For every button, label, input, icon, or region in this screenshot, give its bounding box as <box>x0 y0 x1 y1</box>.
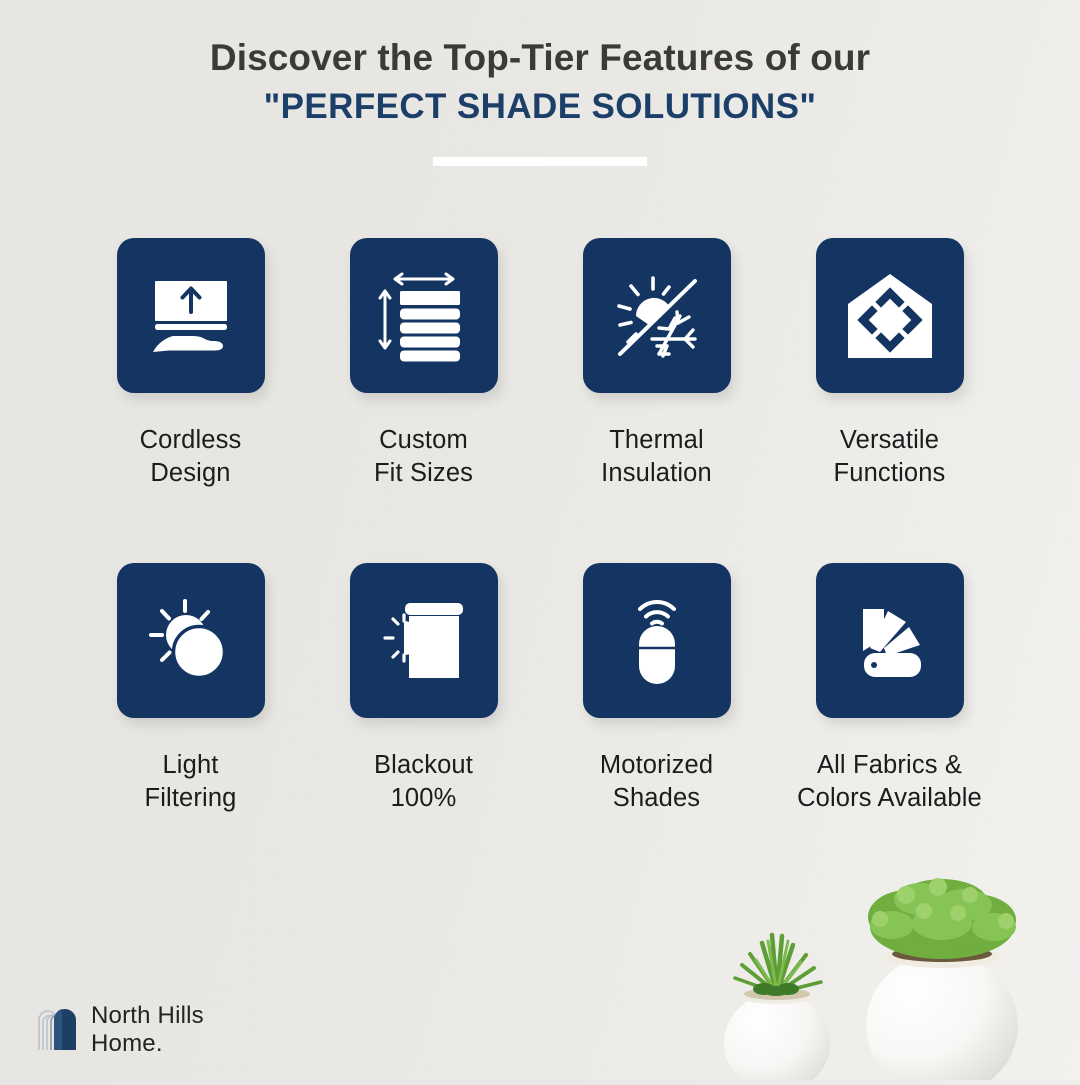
feature-icon-tile <box>117 238 265 393</box>
page-title-line2: "PERFECT SHADE SOLUTIONS" <box>0 84 1080 130</box>
feature-label: Cordless Design <box>140 424 242 490</box>
remote-signal-icon <box>607 590 707 690</box>
feature-grid: Cordless Design <box>0 238 1080 815</box>
feature-label: Thermal Insulation <box>601 424 712 490</box>
measure-blind-icon <box>374 266 474 366</box>
feature-item-light-filtering[interactable]: Light Filtering <box>74 563 307 815</box>
feature-item-thermal-insulation[interactable]: Thermal Insulation <box>540 238 773 490</box>
arch-logo-mark <box>36 1003 80 1056</box>
feature-label: All Fabrics & Colors Available <box>797 749 982 815</box>
feature-icon-tile <box>350 563 498 718</box>
feature-item-versatile-functions[interactable]: Versatile Functions <box>773 238 1006 490</box>
brand-name: North Hills Home. <box>91 1002 204 1058</box>
page-title-line1: Discover the Top-Tier Features of our <box>0 34 1080 81</box>
cordless-shade-hand-icon <box>143 268 239 364</box>
feature-icon-tile <box>816 238 964 393</box>
sun-overlap-circle-icon <box>141 590 241 690</box>
feature-icon-tile <box>583 563 731 718</box>
feature-item-motorized-shades[interactable]: Motorized Shades <box>540 563 773 815</box>
brand-logo[interactable]: North Hills Home. <box>36 1002 204 1058</box>
feature-label: Motorized Shades <box>600 749 713 815</box>
feature-item-custom-fit-sizes[interactable]: Custom Fit Sizes <box>307 238 540 490</box>
feature-label: Custom Fit Sizes <box>374 424 473 490</box>
feature-icon-tile <box>350 238 498 393</box>
feature-label: Light Filtering <box>144 749 236 815</box>
feature-label: Versatile Functions <box>834 424 946 490</box>
title-divider <box>433 157 647 166</box>
feature-icon-tile <box>816 563 964 718</box>
feature-label: Blackout 100% <box>374 749 473 815</box>
house-diamond-arrows-icon <box>840 266 940 366</box>
feature-item-fabrics-colors[interactable]: All Fabrics & Colors Available <box>773 563 1006 815</box>
sun-snowflake-icon <box>607 266 707 366</box>
decorative-plants <box>702 865 1062 1080</box>
fabric-swatch-fan-icon <box>840 590 940 690</box>
shade-moon-sun-icon <box>374 590 474 690</box>
feature-item-blackout[interactable]: Blackout 100% <box>307 563 540 815</box>
feature-icon-tile <box>583 238 731 393</box>
divider-wrap <box>0 157 1080 166</box>
feature-icon-tile <box>117 563 265 718</box>
header: Discover the Top-Tier Features of our "P… <box>0 0 1080 166</box>
feature-item-cordless-design[interactable]: Cordless Design <box>74 238 307 490</box>
